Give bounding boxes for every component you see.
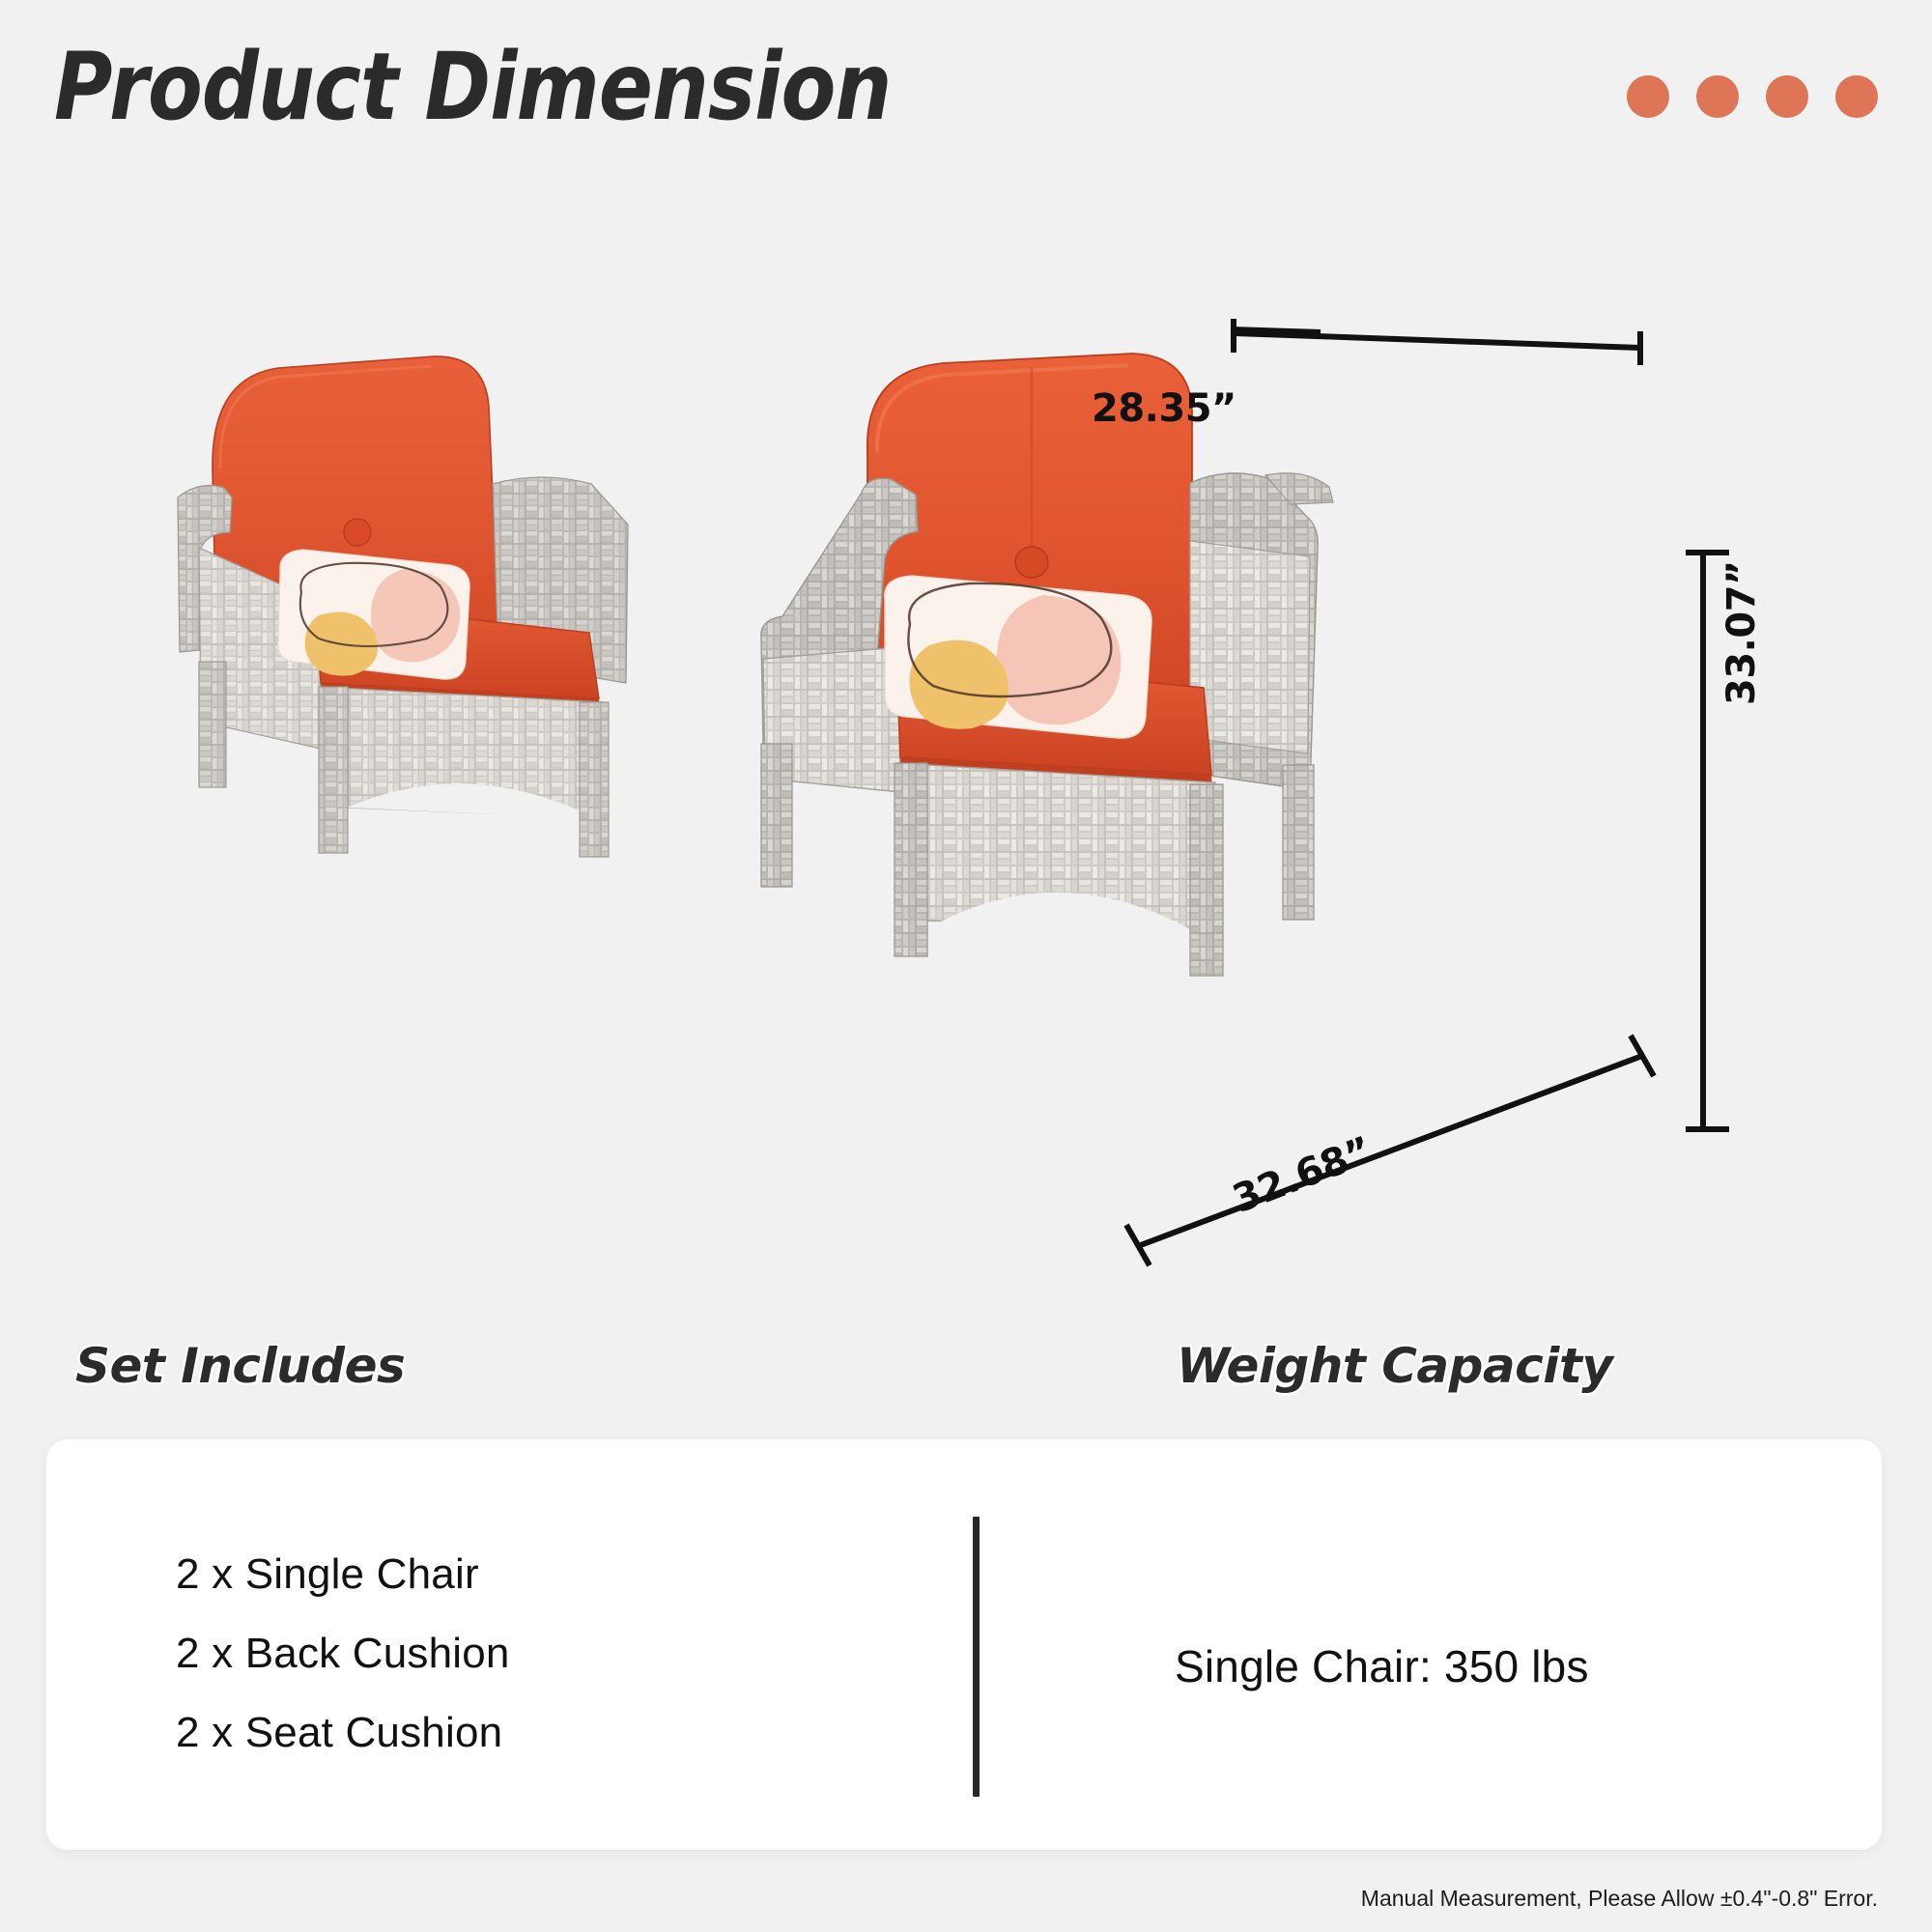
dot-icon <box>1627 75 1669 118</box>
weight-capacity-value: Single Chair: 350 lbs <box>1175 1640 1589 1692</box>
set-includes-list: 2 x Single Chair 2 x Back Cushion 2 x Se… <box>176 1553 510 1754</box>
throw-pillow-right <box>885 576 1152 738</box>
product-dimension-infographic: Product Dimension <box>0 0 1932 1932</box>
list-item: 2 x Back Cushion <box>176 1633 510 1675</box>
dimension-line-depth <box>1126 1036 1654 1265</box>
chair-illustration-right <box>753 338 1372 1005</box>
weight-capacity-heading: Weight Capacity <box>1177 1338 1612 1394</box>
dot-icon <box>1835 75 1878 118</box>
dimension-label-height: 33.07” <box>1719 560 1764 705</box>
list-item: 2 x Seat Cushion <box>176 1712 510 1754</box>
decorative-dot-row <box>1627 75 1878 118</box>
dimension-label-width: 28.35” <box>1092 386 1236 431</box>
dot-icon <box>1696 75 1739 118</box>
dimension-label-depth: 32.68” <box>1227 1128 1378 1222</box>
measurement-disclaimer: Manual Measurement, Please Allow ±0.4"-0… <box>1361 1886 1878 1912</box>
set-includes-heading: Set Includes <box>75 1338 405 1394</box>
throw-pillow-left <box>278 550 469 679</box>
right-armrest-right-chair <box>1190 473 1333 790</box>
chair-illustration-left <box>174 343 676 884</box>
card-vertical-divider <box>973 1517 980 1797</box>
page-title: Product Dimension <box>54 41 891 133</box>
dot-icon <box>1766 75 1808 118</box>
list-item: 2 x Single Chair <box>176 1553 510 1596</box>
